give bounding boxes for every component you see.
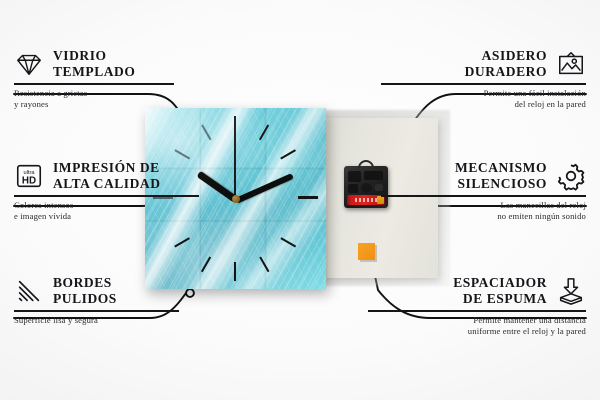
feature-divider bbox=[14, 83, 174, 85]
feature-divider bbox=[381, 195, 586, 197]
feature-divider bbox=[368, 310, 586, 312]
feature-asidero-duradero: ASIDERO DURADERO Permite una fácil insta… bbox=[348, 48, 586, 111]
foam-spacer bbox=[358, 243, 375, 260]
feature-mecanismo-silencioso: MECANISMO SILENCIOSO Las manecillas del … bbox=[348, 160, 586, 223]
svg-text:HD: HD bbox=[22, 176, 36, 187]
feature-divider bbox=[14, 310, 179, 312]
gear-icon bbox=[556, 161, 586, 191]
feature-header: MECANISMO SILENCIOSO bbox=[348, 160, 586, 192]
feature-title: IMPRESIÓN DE ALTA CALIDAD bbox=[53, 160, 161, 192]
feature-title: BORDES PULIDOS bbox=[53, 275, 117, 307]
feature-divider bbox=[14, 195, 199, 197]
infographic-canvas: VIDRIO TEMPLADO Resistencia a grietas y … bbox=[0, 0, 600, 400]
diamond-icon bbox=[14, 49, 44, 79]
feature-description: Las manecillas del reloj no emiten ningú… bbox=[348, 200, 586, 223]
ultra-hd-icon: ultra HD bbox=[14, 161, 44, 191]
feature-title: VIDRIO TEMPLADO bbox=[53, 48, 135, 80]
feature-description: Resistencia a grietas y rayones bbox=[14, 88, 252, 111]
feature-impresion-alta-calidad: ultra HD IMPRESIÓN DE ALTA CALIDAD Color… bbox=[14, 160, 252, 223]
feature-description: Superficie lisa y segura bbox=[14, 315, 252, 326]
hanging-frame-icon bbox=[556, 49, 586, 79]
feature-title: ESPACIADOR DE ESPUMA bbox=[453, 275, 547, 307]
feature-header: ESPACIADOR DE ESPUMA bbox=[348, 275, 586, 307]
feature-title: ASIDERO DURADERO bbox=[465, 48, 547, 80]
foam-spacer-icon bbox=[556, 276, 586, 306]
feature-header: ASIDERO DURADERO bbox=[348, 48, 586, 80]
feature-bordes-pulidos: BORDES PULIDOS Superficie lisa y segura bbox=[14, 275, 252, 326]
feature-vidrio-templado: VIDRIO TEMPLADO Resistencia a grietas y … bbox=[14, 48, 252, 111]
feature-description: Colores intensos e imagen vívida bbox=[14, 200, 252, 223]
feature-header: ultra HD IMPRESIÓN DE ALTA CALIDAD bbox=[14, 160, 252, 192]
feature-header: BORDES PULIDOS bbox=[14, 275, 252, 307]
feature-header: VIDRIO TEMPLADO bbox=[14, 48, 252, 80]
feature-divider bbox=[381, 83, 586, 85]
polished-edge-icon bbox=[14, 276, 44, 306]
feature-description: Permite mantener una distancia uniforme … bbox=[348, 315, 586, 338]
feature-espaciador-espuma: ESPACIADOR DE ESPUMA Permite mantener un… bbox=[348, 275, 586, 338]
feature-description: Permite una fácil instalación del reloj … bbox=[348, 88, 586, 111]
feature-title: MECANISMO SILENCIOSO bbox=[455, 160, 547, 192]
